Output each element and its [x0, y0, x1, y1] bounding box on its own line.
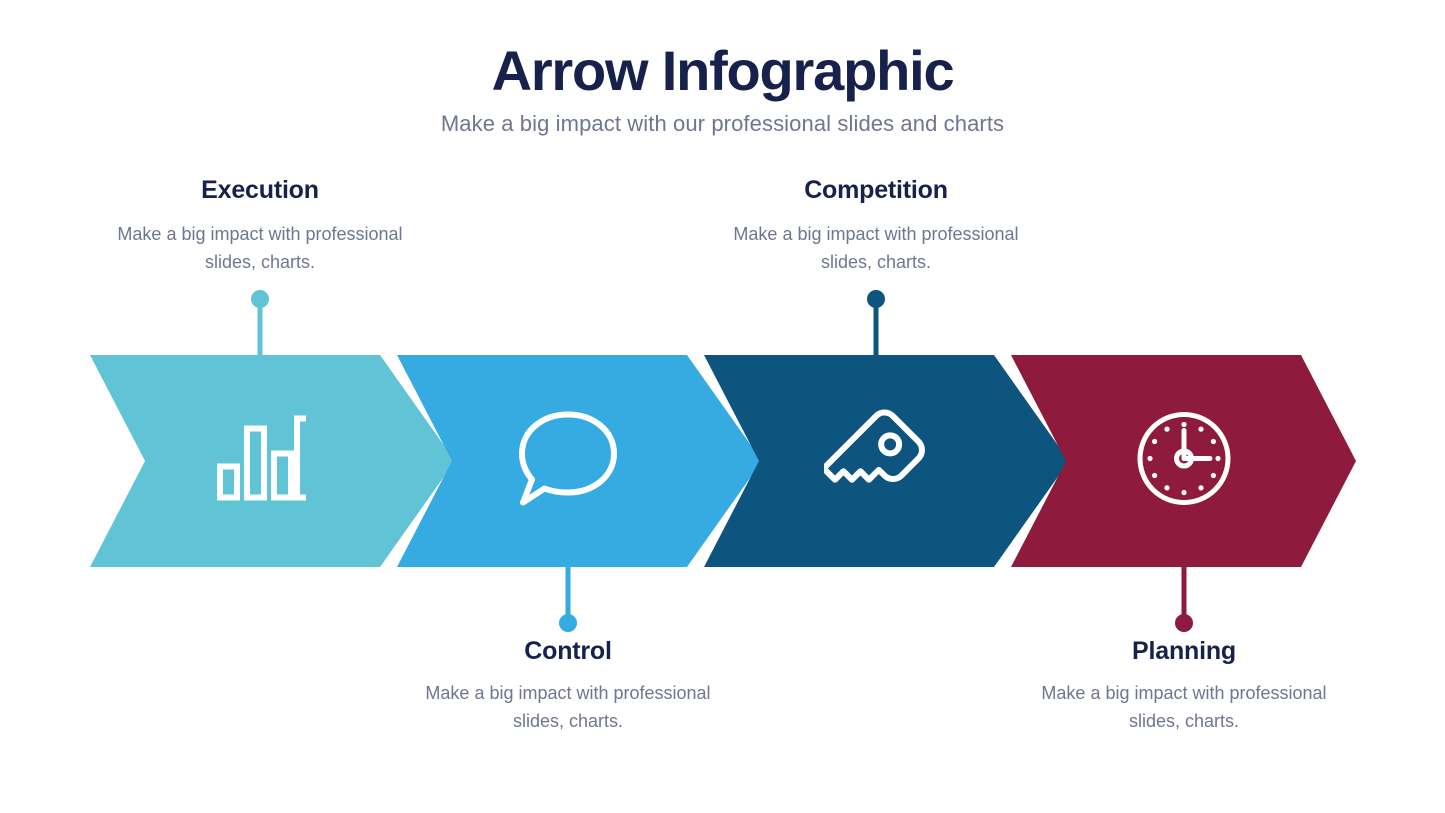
infographic-slide: Arrow Infographic Make a big impact with… [0, 0, 1445, 813]
callout-desc-3: Make a big impact with professional slid… [711, 221, 1041, 277]
arrow-process-band [0, 355, 1445, 567]
connector-2 [550, 560, 586, 632]
callout-4[interactable]: Planning Make a big impact with professi… [1019, 637, 1349, 736]
connector-dot-4 [1175, 614, 1193, 632]
callout-1[interactable]: Execution Make a big impact with profess… [95, 176, 425, 277]
connector-3 [858, 290, 894, 360]
connector-stem-3 [874, 299, 879, 360]
connector-dot-2 [559, 614, 577, 632]
arrow-shapes [0, 355, 1445, 567]
page-title: Arrow Infographic [0, 42, 1445, 99]
callout-title-3: Competition [711, 176, 1041, 205]
callout-3[interactable]: Competition Make a big impact with profe… [711, 176, 1041, 277]
page-subtitle: Make a big impact with our professional … [0, 111, 1445, 137]
callout-title-4: Planning [1019, 637, 1349, 666]
arrow-shape-1[interactable] [90, 355, 455, 567]
callout-2[interactable]: Control Make a big impact with professio… [403, 637, 733, 736]
callout-desc-1: Make a big impact with professional slid… [95, 221, 425, 277]
connector-stem-1 [258, 299, 263, 360]
header: Arrow Infographic Make a big impact with… [0, 42, 1445, 138]
callout-title-1: Execution [95, 176, 425, 205]
connector-1 [242, 290, 278, 360]
callout-desc-4: Make a big impact with professional slid… [1019, 680, 1349, 736]
callout-title-2: Control [403, 637, 733, 666]
callout-desc-2: Make a big impact with professional slid… [403, 680, 733, 736]
connector-4 [1166, 560, 1202, 632]
